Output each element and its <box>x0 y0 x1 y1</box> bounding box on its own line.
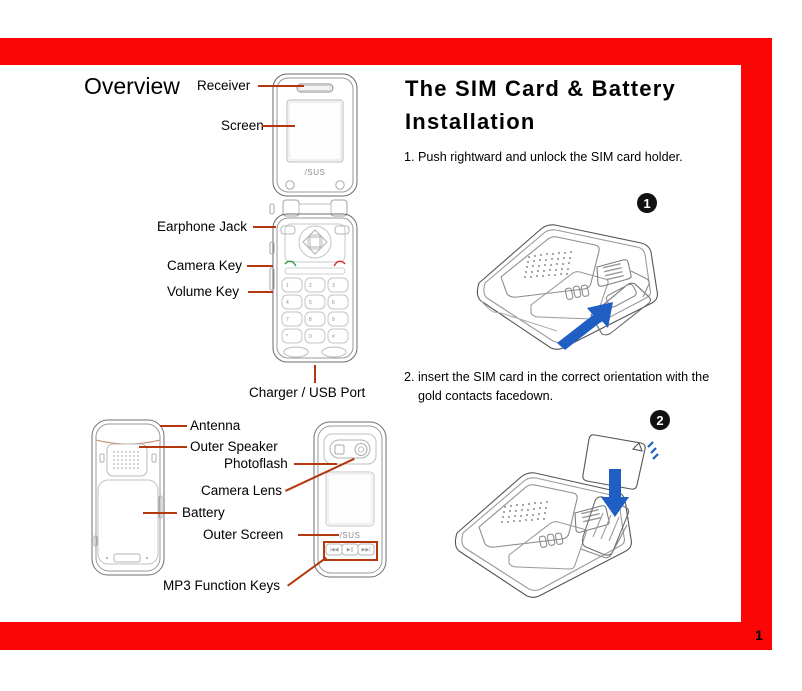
label-camera-key: Camera Key <box>167 258 242 273</box>
sim-title-line-1: The SIM Card & Battery <box>405 76 676 101</box>
svg-text:2: 2 <box>309 283 312 289</box>
step-1-text: Push rightward and unlock the SIM card h… <box>418 148 724 167</box>
leader-antenna <box>160 425 187 427</box>
leader-volume-key <box>248 291 273 293</box>
svg-text:/SUS: /SUS <box>340 531 361 540</box>
illustration-sim-insert <box>443 425 678 605</box>
bottom-red-band <box>0 622 772 650</box>
section-title-sim-battery: The SIM Card & Battery Installation <box>405 72 735 138</box>
leader-outer-screen <box>298 534 339 536</box>
svg-text:6: 6 <box>332 300 335 306</box>
leader-battery <box>143 512 177 514</box>
illustration-phone-back <box>78 418 176 578</box>
leader-charger-usb-port <box>314 365 316 383</box>
svg-text:3: 3 <box>332 283 335 289</box>
svg-text:*: * <box>286 334 288 340</box>
page-title-overview: Overview <box>84 73 180 100</box>
label-antenna: Antenna <box>190 418 240 433</box>
leader-camera-key <box>247 265 273 267</box>
illustration-sim-unlock <box>445 205 675 355</box>
label-photoflash: Photoflash <box>224 456 288 471</box>
label-mp3-function-keys: MP3 Function Keys <box>163 578 280 593</box>
label-outer-speaker: Outer Speaker <box>190 439 278 454</box>
svg-text:/SUS: /SUS <box>305 168 326 177</box>
step-1-number: 1. <box>404 148 415 167</box>
label-receiver: Receiver <box>197 78 250 93</box>
manual-page: 1 Overview /SUS <box>0 0 802 691</box>
step-2: 2. insert the SIM card in the correct or… <box>404 368 724 406</box>
mp3-keys-highlight-box <box>323 541 378 561</box>
label-earphone-jack: Earphone Jack <box>157 219 247 234</box>
leader-outer-speaker <box>139 446 187 448</box>
step-1: 1. Push rightward and unlock the SIM car… <box>404 148 724 167</box>
step-2-text: insert the SIM card in the correct orien… <box>418 368 724 406</box>
label-outer-screen: Outer Screen <box>203 527 283 542</box>
label-volume-key: Volume Key <box>167 284 239 299</box>
label-camera-lens: Camera Lens <box>201 483 282 498</box>
label-screen: Screen <box>221 118 264 133</box>
sim-title-line-2: Installation <box>405 109 536 134</box>
svg-text:#: # <box>332 334 335 340</box>
right-red-band <box>741 38 772 650</box>
step-2-number: 2. <box>404 368 415 387</box>
label-battery: Battery <box>182 505 225 520</box>
label-charger-usb-port: Charger / USB Port <box>249 385 365 400</box>
svg-text:8: 8 <box>309 317 312 323</box>
svg-text:7: 7 <box>286 317 289 323</box>
leader-photoflash <box>294 463 337 465</box>
svg-text:1: 1 <box>286 283 289 289</box>
top-red-band <box>0 38 772 65</box>
svg-text:9: 9 <box>332 317 335 323</box>
svg-text:4: 4 <box>286 300 289 306</box>
illustration-open-phone-front: /SUS <box>265 72 365 367</box>
leader-receiver <box>258 85 304 87</box>
svg-text:0: 0 <box>309 334 312 340</box>
svg-text:5: 5 <box>309 300 312 306</box>
leader-earphone-jack <box>253 226 276 228</box>
page-number: 1 <box>745 621 773 649</box>
leader-screen <box>262 125 295 127</box>
